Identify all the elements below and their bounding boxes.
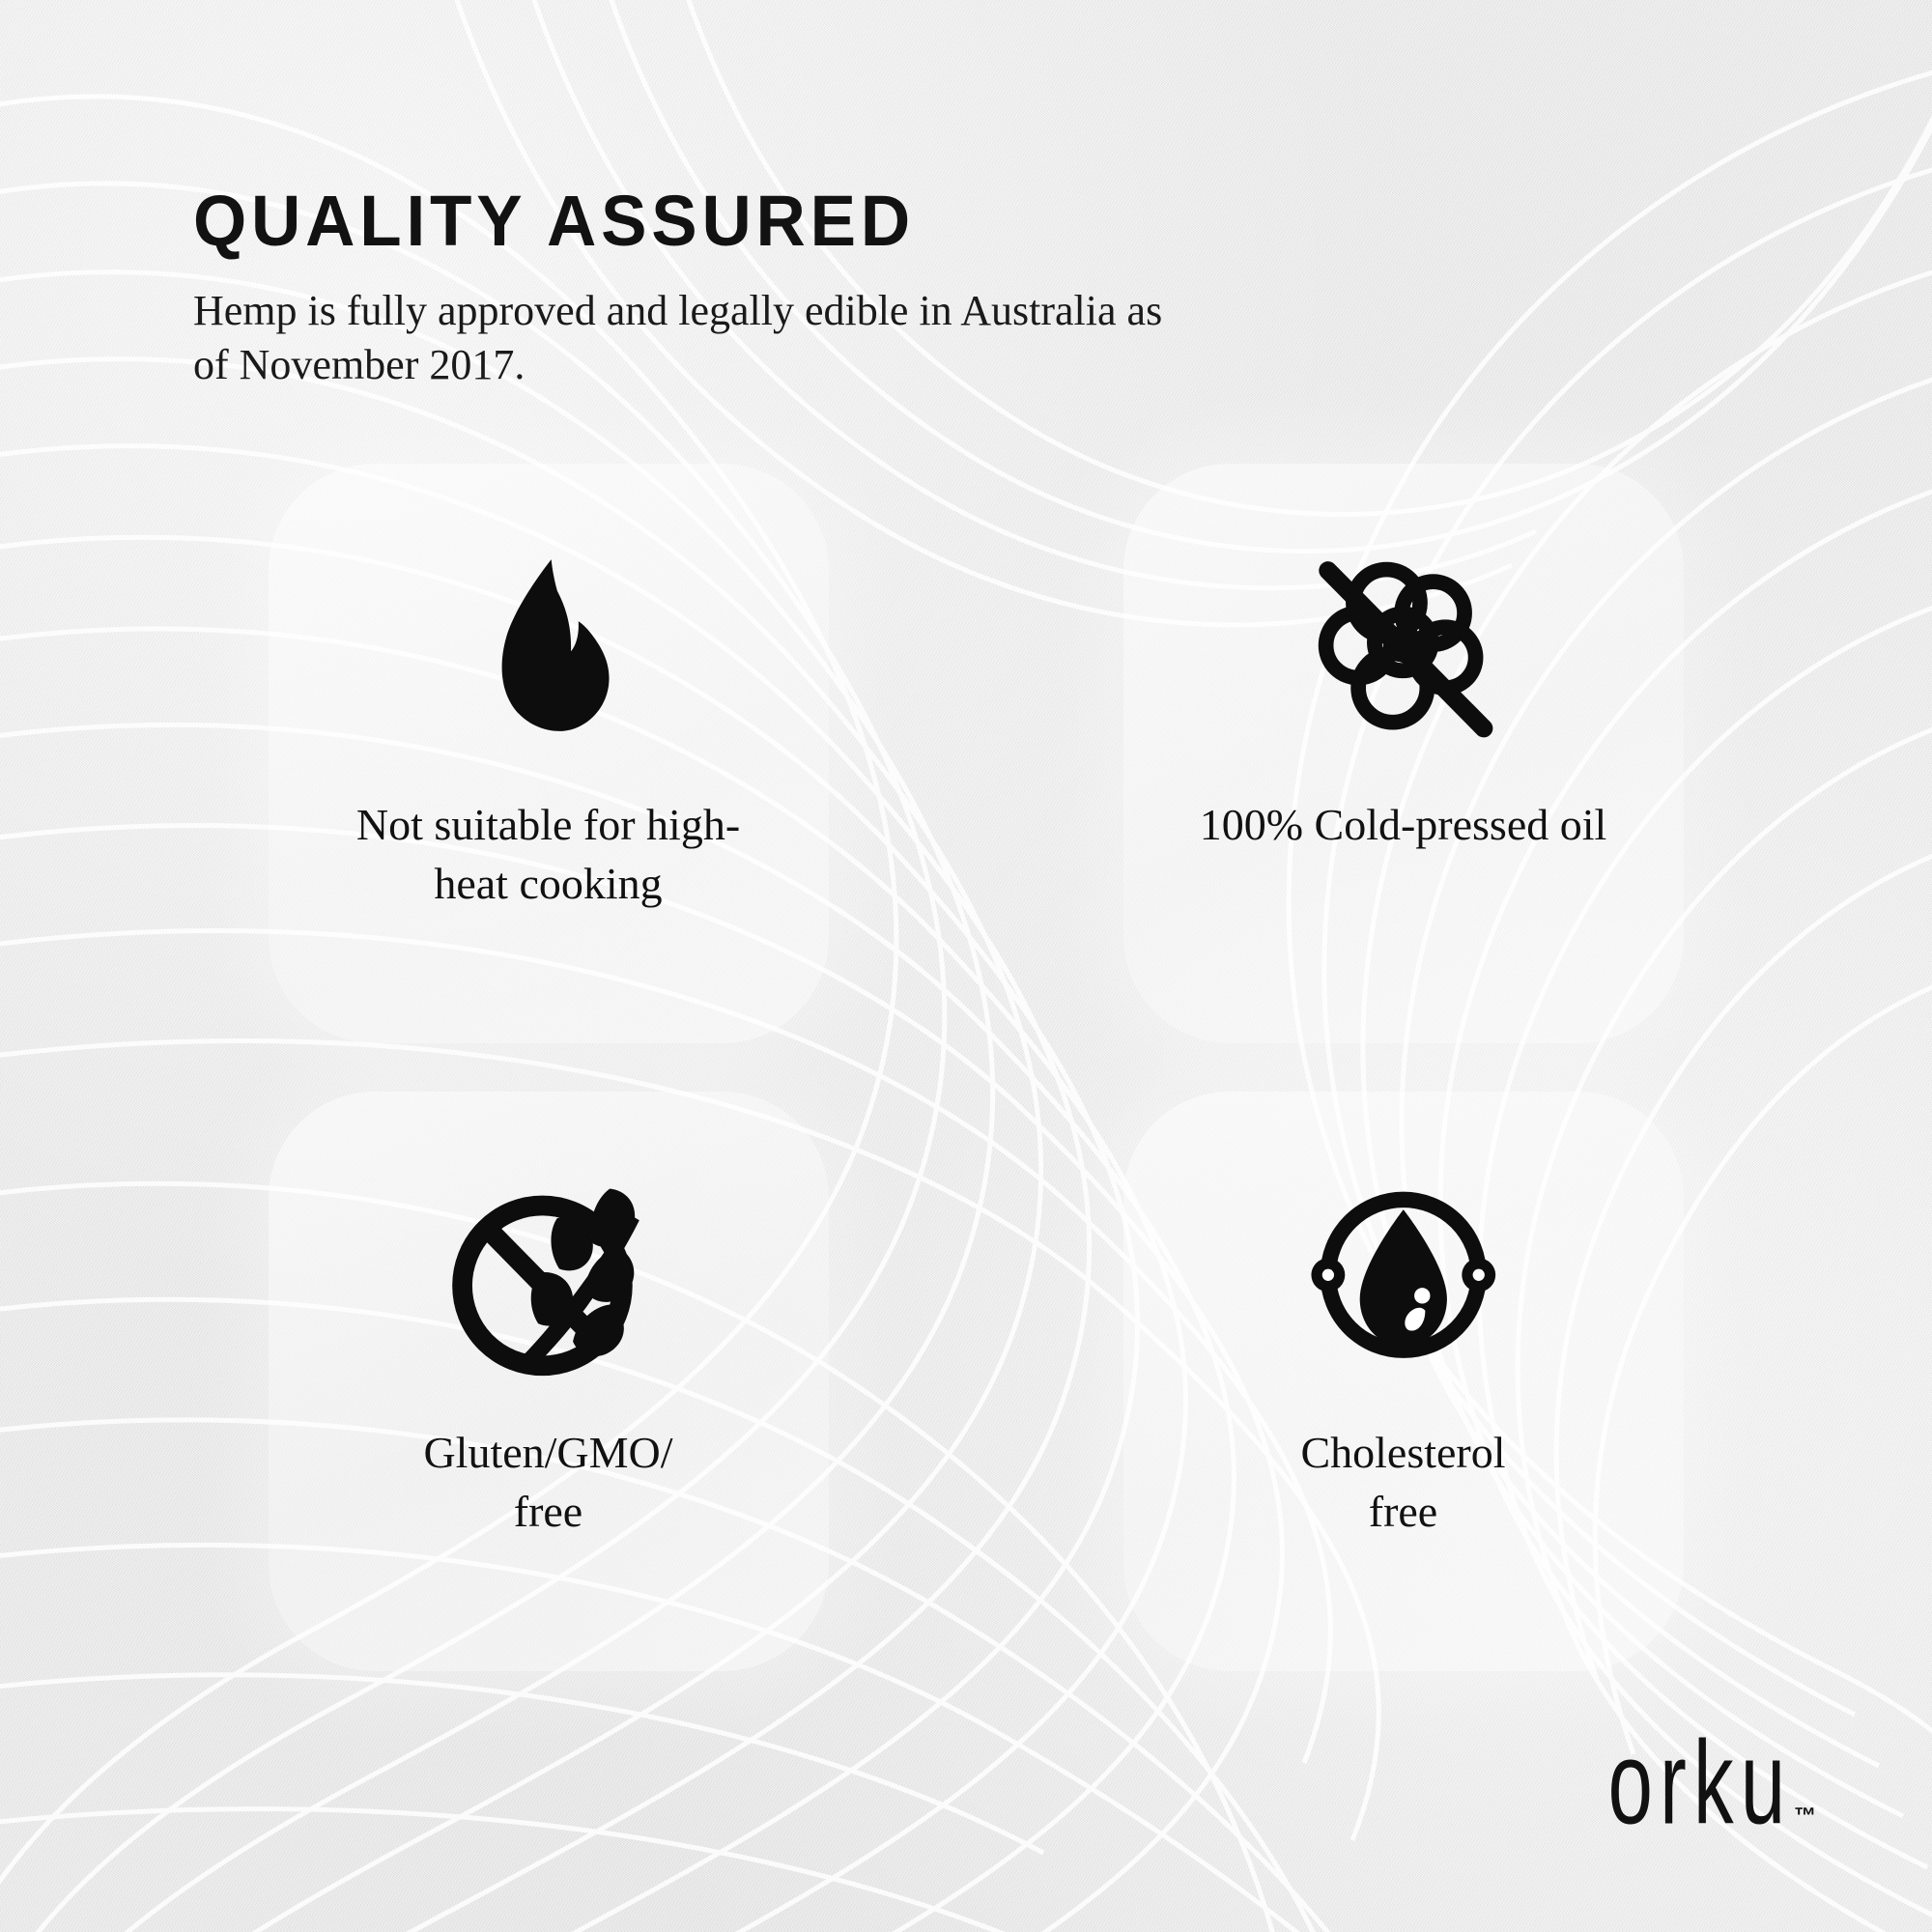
no-nut-icon bbox=[1288, 531, 1520, 763]
header: QUALITY ASSURED Hemp is fully approved a… bbox=[193, 184, 1449, 392]
brand-wordmark: orku bbox=[1607, 1727, 1792, 1840]
feature-card-not-suitable-high-heat: Not suitable for high-heat cooking bbox=[269, 464, 829, 1043]
feature-card-label: 100% Cold-pressed oil bbox=[1196, 796, 1611, 855]
flame-icon bbox=[433, 531, 665, 763]
feature-card-gluten-gmo-free: Gluten/GMO/ free bbox=[269, 1092, 829, 1671]
page-subtitle: Hemp is fully approved and legally edibl… bbox=[193, 284, 1169, 393]
trademark-symbol: ™ bbox=[1794, 1803, 1816, 1829]
feature-card-label: Gluten/GMO/ free bbox=[341, 1424, 756, 1541]
feature-card-grid: Not suitable for high-heat cooking bbox=[174, 464, 1777, 1710]
feature-card-cold-pressed: 100% Cold-pressed oil bbox=[1123, 464, 1684, 1043]
cholesterol-drop-icon bbox=[1288, 1159, 1520, 1391]
feature-card-label: Not suitable for high-heat cooking bbox=[341, 796, 756, 913]
no-wheat-icon bbox=[433, 1159, 665, 1391]
infographic-page: QUALITY ASSURED Hemp is fully approved a… bbox=[0, 0, 1932, 1932]
brand-logo: orku ™ bbox=[1562, 1745, 1816, 1840]
feature-card-cholesterol-free: Cholesterol free bbox=[1123, 1092, 1684, 1671]
feature-card-label: Cholesterol free bbox=[1196, 1424, 1611, 1541]
page-title: QUALITY ASSURED bbox=[193, 184, 1399, 259]
